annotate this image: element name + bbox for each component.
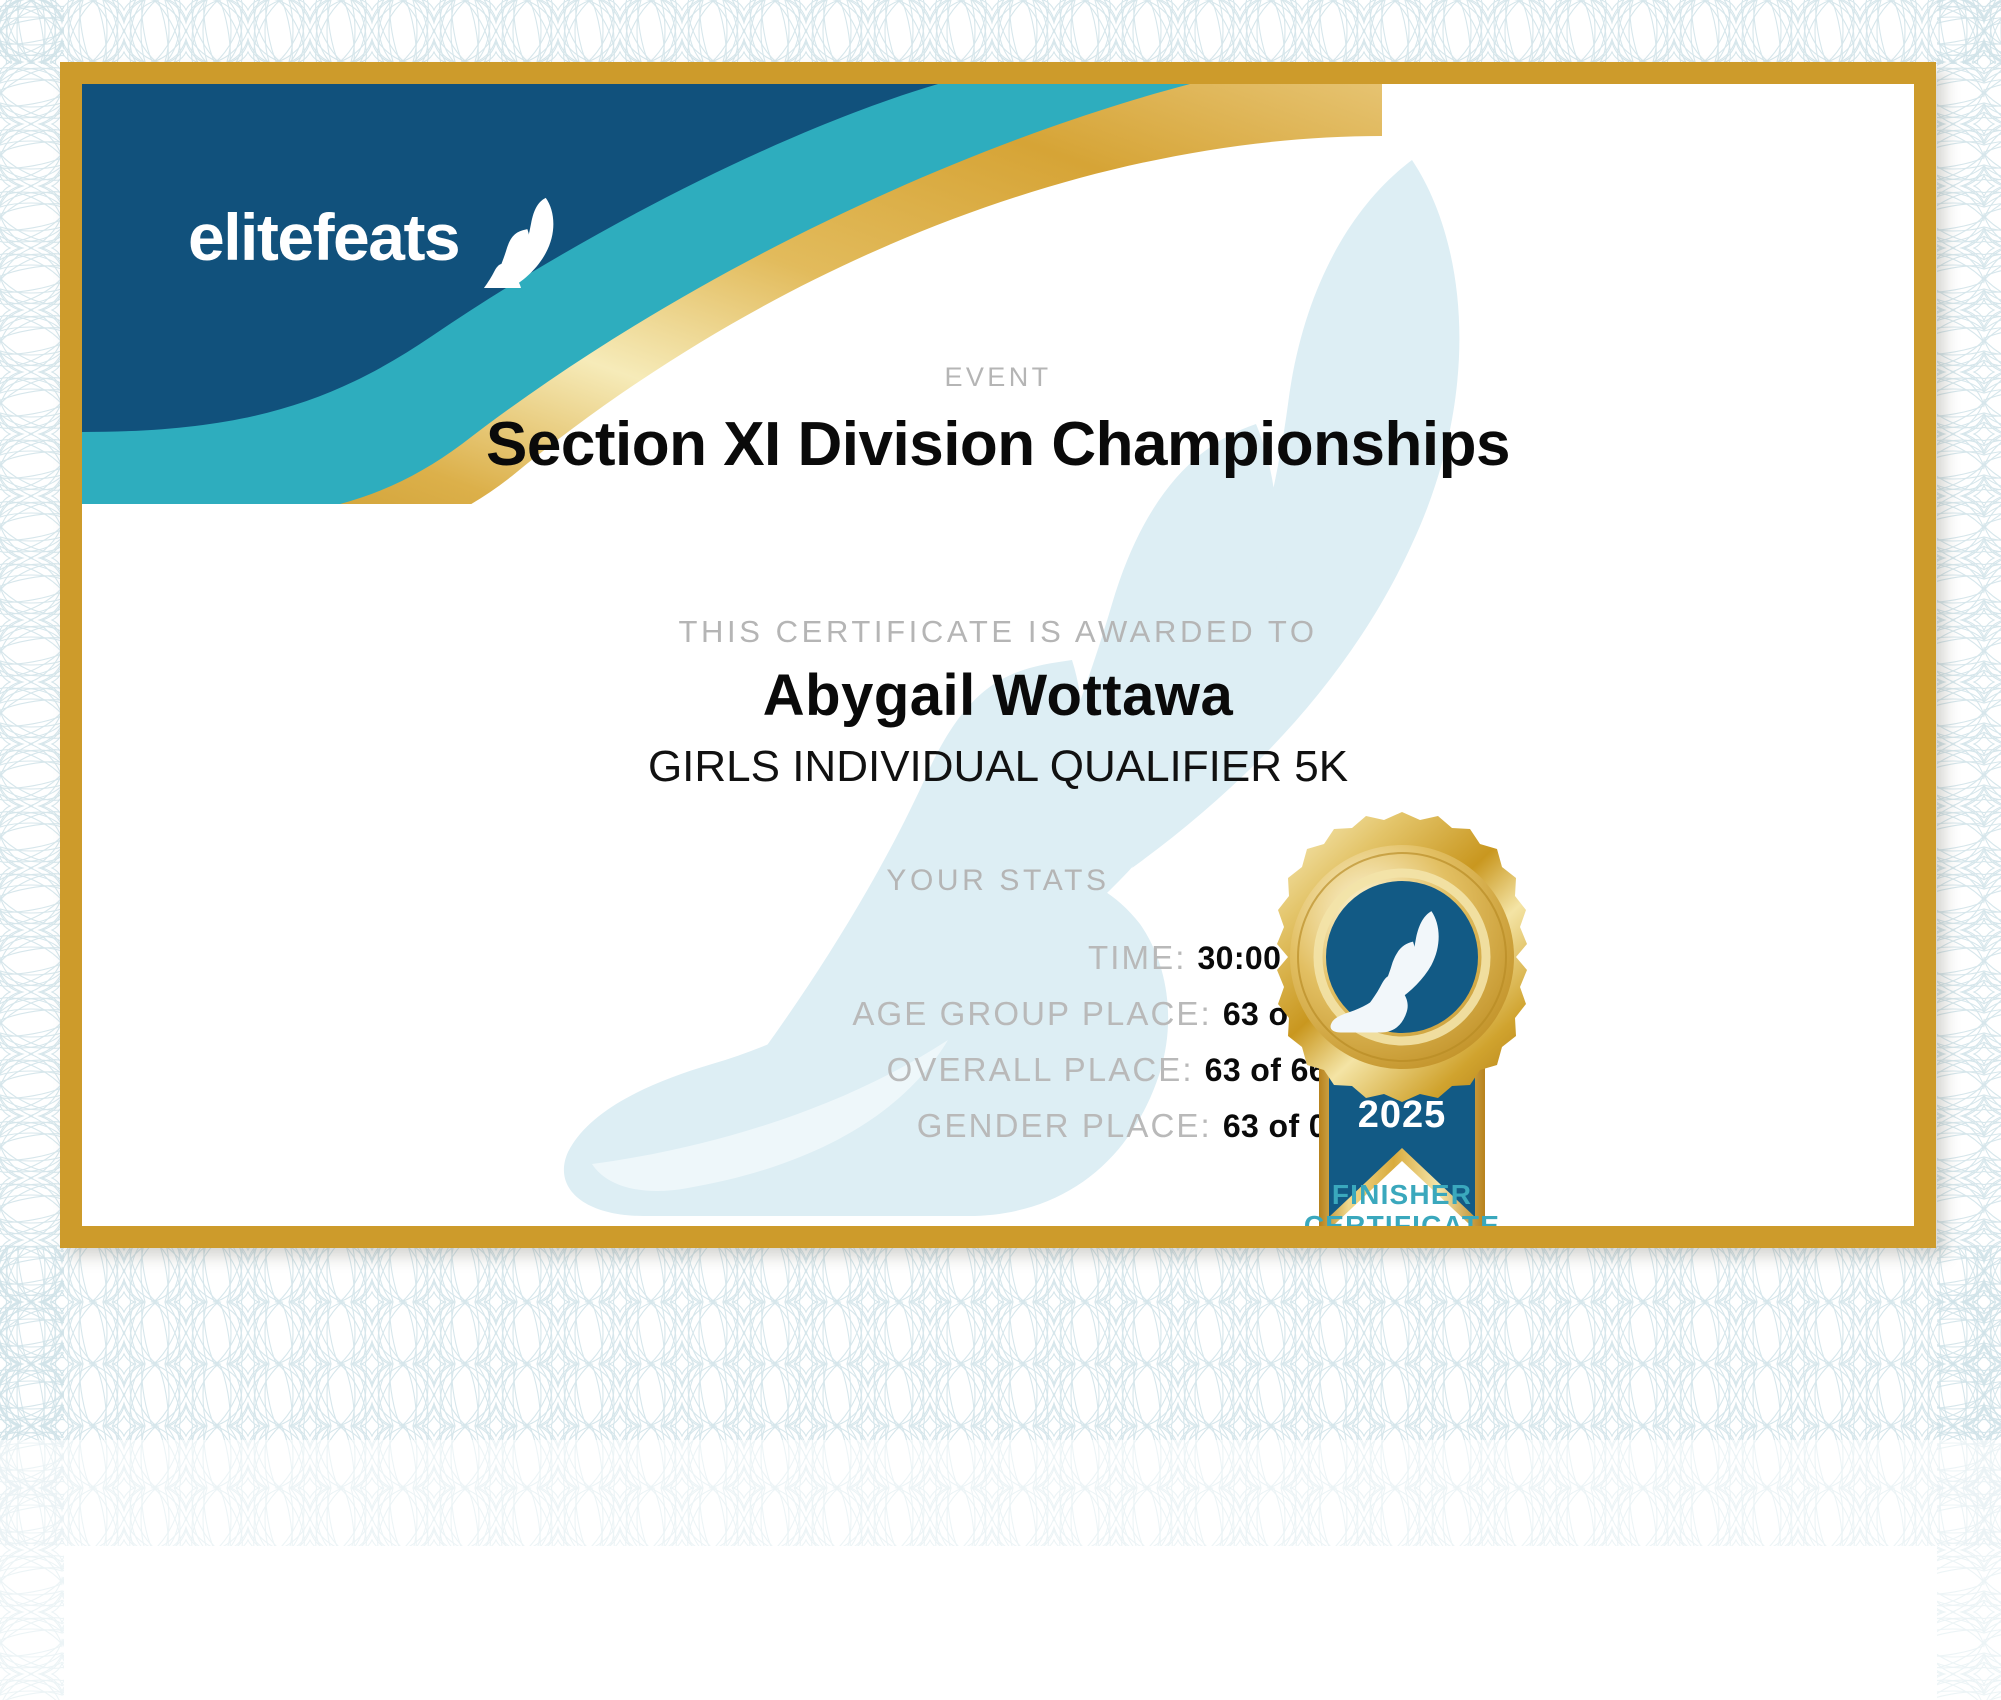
certificate-gold-frame: elitefeats EVENT Section XI Division Cha…	[60, 62, 1936, 1248]
stat-row-gender-place: GENDER PLACE: 63 of 0	[82, 1107, 1327, 1145]
event-label: EVENT	[82, 362, 1914, 393]
stat-key-gender-place: GENDER PLACE:	[917, 1107, 1212, 1145]
event-title: Section XI Division Championships	[82, 409, 1914, 480]
finisher-medal-seal: 2025	[1237, 809, 1567, 1226]
finisher-certificate-caption: FINISHER CERTIFICATE	[1232, 1179, 1572, 1226]
winged-foot-icon	[443, 198, 553, 288]
stat-row-overall-place: OVERALL PLACE: 63 of 66	[82, 1051, 1327, 1089]
division-name: GIRLS INDIVIDUAL QUALIFIER 5K	[82, 742, 1914, 792]
logo-wordmark: elitefeats	[188, 200, 459, 274]
recipient-name: Abygail Wottawa	[82, 662, 1914, 729]
elitefeats-logo: elitefeats	[188, 192, 588, 288]
stats-table: TIME: 30:00.40 AGE GROUP PLACE: 63 of 0 …	[82, 939, 1327, 1163]
certificate-body: elitefeats EVENT Section XI Division Cha…	[82, 84, 1914, 1226]
awarded-to-label: THIS CERTIFICATE IS AWARDED TO	[82, 614, 1914, 650]
stat-row-age-group-place: AGE GROUP PLACE: 63 of 0	[82, 995, 1327, 1033]
stat-key-overall-place: OVERALL PLACE:	[887, 1051, 1194, 1089]
stat-key-time: TIME:	[1088, 939, 1187, 977]
finisher-caption-line1: FINISHER	[1232, 1179, 1572, 1210]
medal-starburst	[1277, 812, 1527, 1102]
finisher-caption-line2: CERTIFICATE	[1232, 1210, 1572, 1226]
certificate-page: elitefeats EVENT Section XI Division Cha…	[0, 0, 2001, 1700]
stat-key-age-group-place: AGE GROUP PLACE:	[852, 995, 1211, 1033]
your-stats-label: YOUR STATS	[82, 864, 1914, 898]
stat-row-time: TIME: 30:00.40	[82, 939, 1327, 977]
